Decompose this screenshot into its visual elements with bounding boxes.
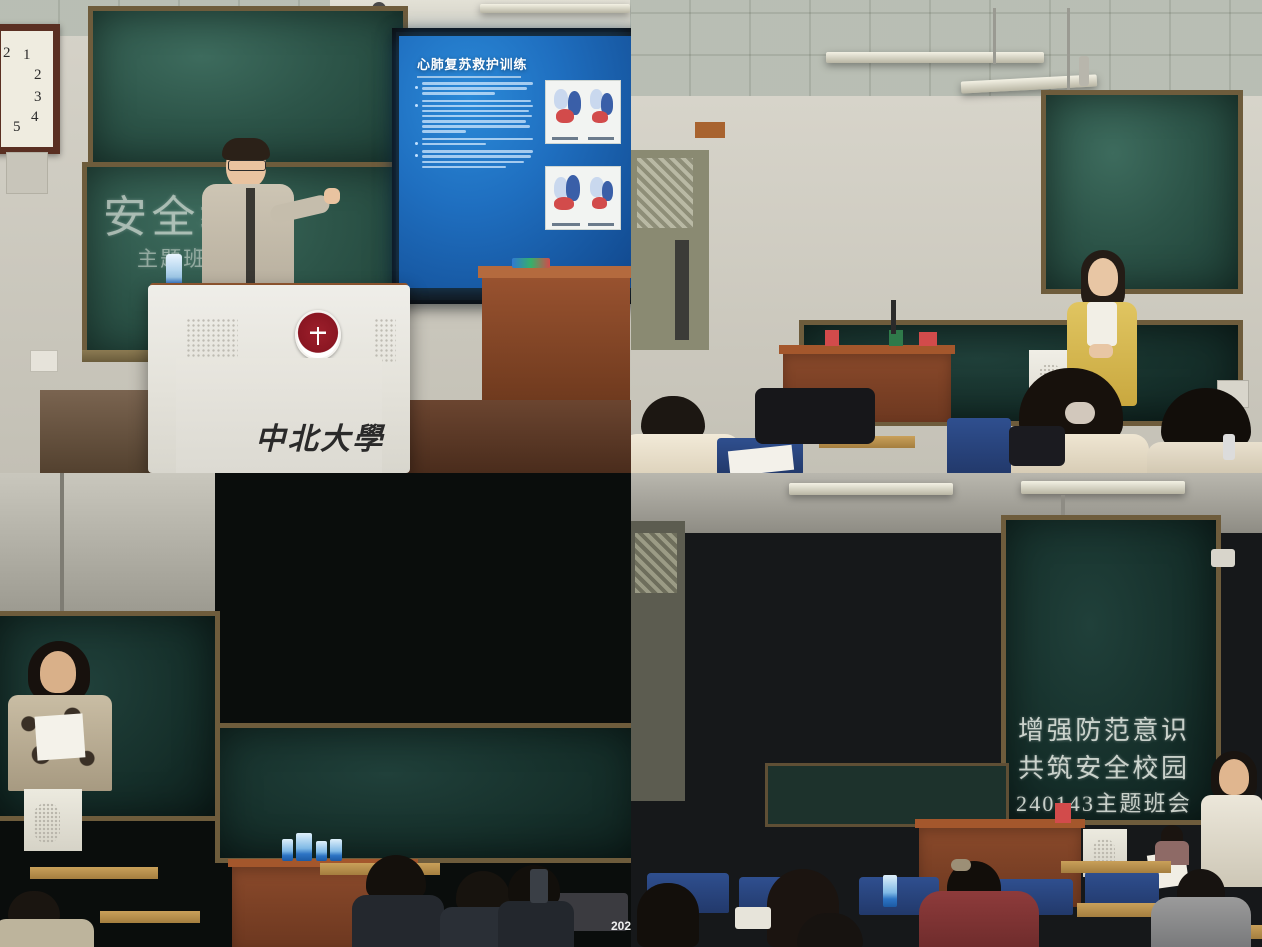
water-bottle-2 (296, 833, 312, 861)
glasses-icon (228, 160, 266, 171)
speaker-grill-icon (34, 803, 60, 843)
chalk-line-3: 240143主题班会 (1016, 786, 1192, 818)
stage-floor-right (404, 400, 631, 473)
hair-clip-icon (951, 859, 971, 871)
water-bottle (883, 875, 897, 907)
desk-row-front (100, 911, 200, 923)
hair (1161, 388, 1251, 448)
hair-tie-icon (1065, 402, 1095, 424)
red-box-item (825, 330, 839, 346)
inner-shirt (1087, 302, 1117, 346)
microphone-stand (891, 300, 896, 334)
backpack-2 (1009, 426, 1065, 466)
chalk-line-2: 共筑安全校园 (1018, 748, 1190, 785)
podium-university-name: 中北大學 (236, 414, 404, 458)
wall-plate (6, 152, 48, 194)
cpr-slide: 心肺复苏救护训练 (399, 36, 631, 288)
red-box-item-2 (919, 332, 937, 346)
photo-collage: 2 1 2 3 4 5 安全教育 主题班会 23070141班 心肺复苏救护训练 (0, 0, 1262, 947)
wooden-lectern-right (482, 272, 630, 402)
power-outlet-icon (30, 350, 58, 372)
camera-icon (1211, 549, 1235, 567)
cpr-slide-bullets (415, 82, 533, 173)
panel-top-right (631, 0, 1262, 473)
projector-body-icon (1079, 56, 1089, 86)
ceiling-light-1 (826, 52, 1044, 63)
student-4 (0, 891, 88, 947)
wall-clock: 2 1 2 3 4 5 (0, 24, 60, 154)
backpack (755, 388, 875, 444)
panel-top-left: 2 1 2 3 4 5 安全教育 主题班会 23070141班 心肺复苏救护训练 (0, 0, 631, 473)
student-3 (787, 913, 877, 947)
panel-bottom-left: 校 园 安 全 教 育 CAMPUS SAFETY EDUCATION ——23… (0, 473, 631, 947)
light-hanger-2 (1067, 8, 1070, 92)
student-1 (631, 883, 717, 947)
chair-back-2 (947, 418, 1011, 473)
wall-upper-left (0, 473, 215, 613)
female-instructor (8, 641, 114, 791)
marker-set-icon (512, 258, 550, 268)
cpr-illustration-bottom (545, 166, 621, 230)
ceiling-light-1 (789, 483, 953, 495)
panel-bottom-right: 增强防范意识 共筑安全校园 240143主题班会 增强防范意识 共筑安全校园 2… (631, 473, 1262, 947)
student-red-hoodie (919, 861, 1039, 947)
water-bottle-3 (316, 841, 327, 861)
cpr-slide-title: 心肺复苏救护训练 (417, 54, 527, 73)
water-bottle-4 (330, 839, 342, 861)
desk-row-left (30, 867, 158, 879)
blackboard-left-lower (765, 763, 1009, 827)
ceiling-light (480, 4, 630, 13)
paper-handout (35, 713, 86, 760)
phone-icon (1223, 434, 1235, 460)
water-bottle-1 (282, 839, 293, 861)
lectern-top-surface (779, 345, 955, 354)
hair (222, 138, 270, 160)
photo-timestamp: 202 (611, 919, 631, 933)
wall-sign (695, 122, 725, 138)
university-crest-icon (295, 310, 341, 360)
hands (1089, 344, 1113, 358)
light-hanger-1 (993, 8, 996, 64)
student-1 (352, 855, 444, 947)
hand (324, 188, 340, 204)
wall-seam (60, 473, 64, 613)
window-grille (635, 533, 677, 593)
door-frame-dark (675, 240, 689, 340)
blackboard-center (215, 723, 631, 863)
window-grille (637, 158, 693, 228)
phone-icon (530, 869, 548, 903)
jacket (1147, 442, 1262, 473)
student-gray (1151, 869, 1251, 947)
red-cup-icon (1055, 803, 1071, 823)
blackboard-right: 增强防范意识 共筑安全校园 240143主题班会 (1001, 515, 1221, 825)
ceiling-tiles (631, 0, 1262, 96)
cpr-illustration-top (545, 80, 621, 144)
lectern-top-right (478, 266, 631, 278)
ceiling-light-2 (1021, 481, 1185, 494)
red-hoodie (919, 891, 1039, 947)
chalk-line-1: 增强防范意识 (1018, 710, 1190, 747)
white-bag (735, 907, 771, 929)
seated-person-far (1155, 825, 1189, 865)
student-right (1147, 388, 1262, 473)
